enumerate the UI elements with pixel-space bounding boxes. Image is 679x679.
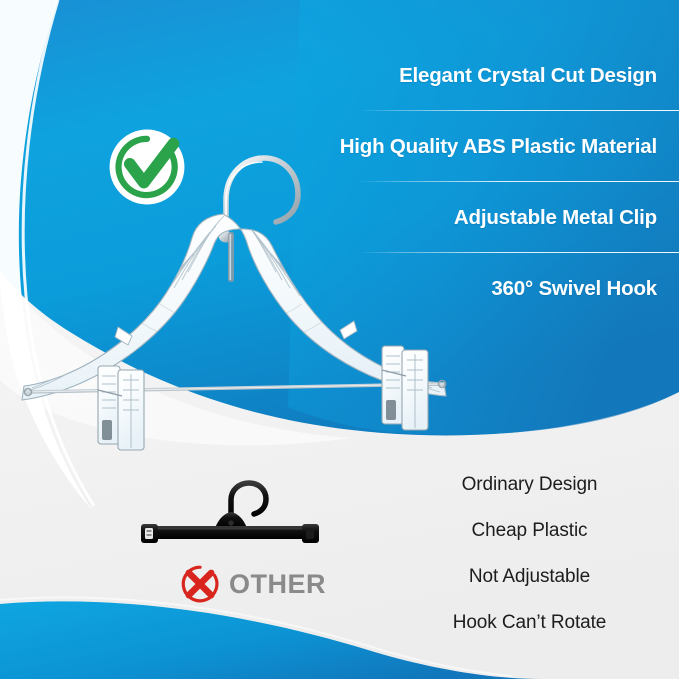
adjustable-metal-clip-right [382,346,428,430]
con-row: Not Adjustable [380,554,679,600]
con-row: Ordinary Design [380,462,679,508]
feature-row: 360° Swivel Hook [330,253,679,324]
con-row: Hook Can’t Rotate [380,600,679,646]
feature-row: High Quality ABS Plastic Material [330,111,679,182]
pros-feature-list: Elegant Crystal Cut Design High Quality … [330,40,679,324]
feature-row: Adjustable Metal Clip [330,182,679,253]
cons-feature-list: Ordinary Design Cheap Plastic Not Adjust… [380,462,679,646]
adjustable-metal-clip-left [98,366,144,450]
feature-label: High Quality ABS Plastic Material [340,135,657,159]
con-label: Hook Can’t Rotate [453,612,607,634]
black-plastic-pants-hanger [135,478,325,550]
con-row: Cheap Plastic [380,508,679,554]
feature-label: Adjustable Metal Clip [454,206,657,230]
con-label: Not Adjustable [469,566,590,588]
other-label: OTHER [229,571,326,598]
red-x-circle-icon [180,564,220,604]
feature-label: 360° Swivel Hook [491,277,657,301]
con-label: Cheap Plastic [472,520,588,542]
feature-label: Elegant Crystal Cut Design [399,64,657,88]
feature-row: Elegant Crystal Cut Design [330,40,679,111]
con-label: Ordinary Design [462,474,598,496]
other-badge: OTHER [180,562,326,606]
infographic-canvas: Elegant Crystal Cut Design High Quality … [0,0,679,679]
